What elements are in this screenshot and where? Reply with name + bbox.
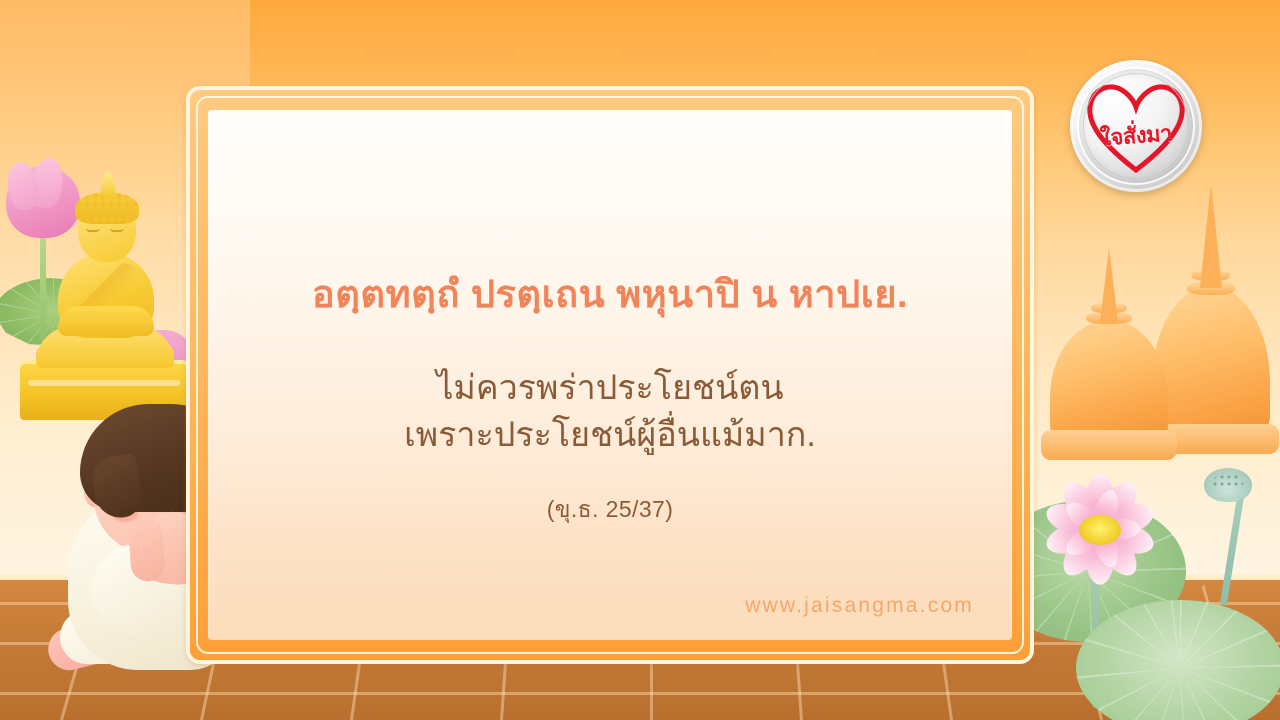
pali-quote-text: อตฺตทตฺถํ ปรตฺเถน พหุนาปิ น หาปเย. bbox=[312, 270, 908, 321]
website-url[interactable]: www.jaisangma.com bbox=[745, 594, 974, 618]
buddha-statue-decoration bbox=[18, 150, 198, 420]
meaning-line-2: เพราะประโยชน์ผู้อื่นแม้มาก. bbox=[404, 412, 816, 458]
brand-logo-badge[interactable]: ใจสั่งมา bbox=[1070, 60, 1202, 192]
pagoda-back-icon bbox=[1152, 196, 1270, 432]
heart-icon bbox=[1082, 74, 1190, 178]
pagoda-front-icon bbox=[1050, 248, 1168, 438]
dhamma-quote-card: อตฺตทตฺถํ ปรตฺเถน พหุนาปิ น หาปเย. ไม่คว… bbox=[0, 0, 1280, 720]
meaning-text-block: ไม่ควรพร่าประโยชน์ตน เพราะประโยชน์ผู้อื่… bbox=[404, 365, 816, 457]
quote-content: อตฺตทตฺถํ ปรตฺเถน พหุนาปิ น หาปเย. ไม่คว… bbox=[208, 110, 1012, 640]
lotus-flower-icon bbox=[1034, 470, 1166, 588]
meaning-line-1: ไม่ควรพร่าประโยชน์ตน bbox=[404, 365, 816, 411]
scripture-reference: (ขุ.ธ. 25/37) bbox=[547, 492, 674, 528]
statue-flame-finial-icon bbox=[101, 172, 115, 198]
lotus-seed-pod-icon bbox=[1204, 468, 1252, 502]
lotus-flower-center bbox=[1079, 515, 1121, 545]
brand-name-text: ใจสั่งมา bbox=[1081, 114, 1191, 156]
statue-arms bbox=[58, 306, 154, 336]
heart-logo-wrap: ใจสั่งมา bbox=[1082, 74, 1190, 178]
seed-pod-stem bbox=[1220, 488, 1245, 606]
